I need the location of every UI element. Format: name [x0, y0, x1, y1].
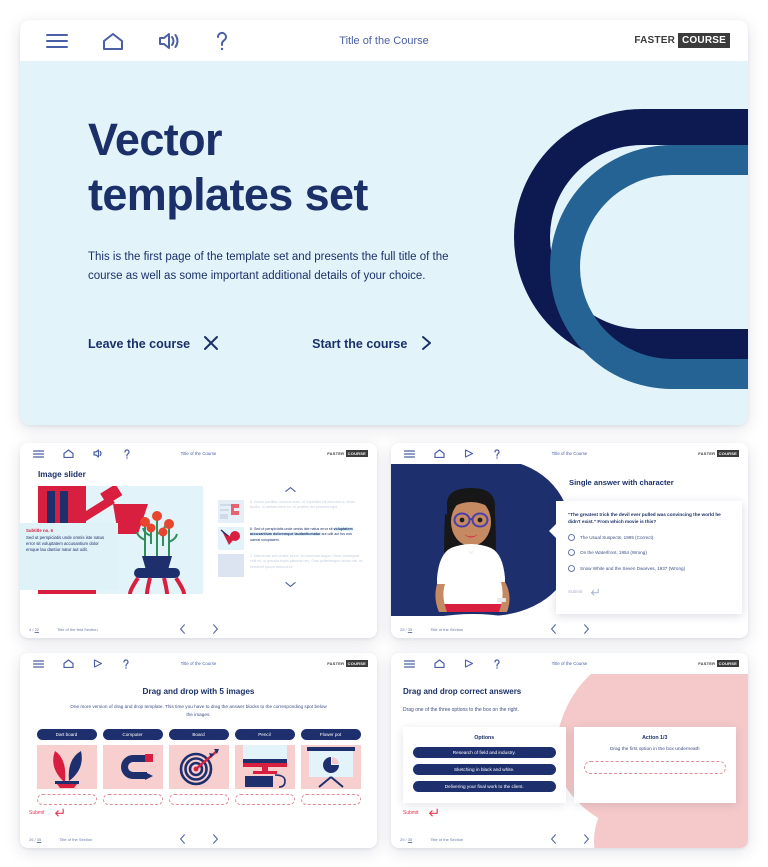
submit-label: Submit	[403, 810, 419, 816]
option-pill[interactable]: Delivering your final work to the client…	[413, 781, 556, 792]
question-text: "The greatest trick the devil ever pulle…	[568, 511, 730, 525]
drag-answers-heading: Drag and drop correct answers	[403, 687, 521, 696]
chevron-left-icon[interactable]	[550, 831, 557, 849]
drop-zone[interactable]	[584, 761, 727, 774]
slide-drag-drop-images[interactable]: Title of the Course FASTERCOURSE Drag an…	[20, 653, 377, 848]
drag-cell: Board	[169, 729, 229, 805]
drop-zone[interactable]	[235, 794, 295, 805]
mini3-pager	[29, 831, 368, 849]
start-course-label: Start the course	[312, 337, 407, 351]
mini2-topbar: Title of the Course FASTERCOURSE	[391, 443, 748, 464]
help-icon[interactable]	[214, 31, 230, 51]
submit-label: Submit	[568, 589, 582, 594]
list-item[interactable]: 1. Maecenas sed ornare lorem, id commodo…	[218, 554, 363, 577]
mini3-canvas: Drag and drop with 5 images One more ver…	[20, 674, 377, 848]
option-pill[interactable]: Sketching in black and white.	[413, 764, 556, 775]
action-header: Action 1/3	[584, 735, 727, 741]
mini1-nav-icons	[33, 449, 131, 459]
hero-actions: Leave the course Start the course	[88, 335, 483, 354]
drag-cell: Flower pot	[301, 729, 361, 805]
chevron-right-icon	[420, 335, 432, 354]
drag-cell: Dart board	[37, 729, 97, 805]
hero-slide: Title of the Course FASTERCOURSE Vector …	[20, 20, 748, 425]
sound-icon[interactable]	[93, 449, 104, 458]
mini2-pager	[400, 621, 739, 639]
menu-icon[interactable]	[33, 660, 44, 668]
mini1-canvas: Image slider	[20, 464, 377, 638]
answer-pill[interactable]: Pencil	[235, 729, 295, 740]
slide-deck-preview: Title of the Course FASTERCOURSE Vector …	[0, 0, 768, 867]
submit-button[interactable]: Submit	[403, 804, 438, 822]
list-item-text-before: 6. Sed ut perspiciatis unde omnis iste n…	[250, 527, 334, 531]
answer-pill[interactable]: Computer	[103, 729, 163, 740]
hero-nav-icons	[46, 31, 230, 51]
slider-thumbnail	[218, 527, 244, 550]
slide-single-answer[interactable]: Title of the Course FASTERCOURSE	[391, 443, 748, 638]
answer-option-label: Snow White and the Seven Dwarves, 1937 (…	[580, 566, 685, 571]
mini4-nav-icons	[404, 659, 501, 669]
mini1-footer: 4 / 22 Title of the first Section	[29, 627, 368, 632]
drag-images-grid: Dart board Computer Board	[20, 729, 377, 805]
mini2-footer: 29 / 35 Title of the Section	[400, 627, 739, 632]
home-icon[interactable]	[102, 32, 124, 50]
chevron-down-icon[interactable]	[218, 581, 363, 591]
submit-button[interactable]: Submit	[29, 804, 64, 822]
sound-icon[interactable]	[158, 32, 180, 50]
drag-images-description: One more version of drag and drop templa…	[67, 703, 331, 718]
leave-course-label: Leave the course	[88, 337, 190, 351]
hero-subtitle: This is the first page of the template s…	[88, 248, 483, 286]
fastercourse-logo: FASTERCOURSE	[698, 660, 739, 667]
home-icon[interactable]	[434, 659, 445, 668]
answer-pill[interactable]: Dart board	[37, 729, 97, 740]
mini4-canvas: Drag and drop correct answers Drag one o…	[391, 674, 748, 848]
hero-body: Vector templates set This is the first p…	[20, 61, 748, 425]
list-item[interactable]: 5. Donec porttitor rhoncus enim, et impe…	[218, 500, 363, 523]
answer-option-label: The Usual Suspects, 1995 (Correct)	[580, 535, 653, 540]
home-icon[interactable]	[63, 449, 74, 458]
callout-title: Subtitle no. 6	[26, 528, 112, 533]
drag-answers-panels: Options Research of field and industry. …	[403, 727, 736, 803]
mini3-footer: 26 / 35 Title of the Section	[29, 837, 368, 842]
option-pill[interactable]: Research of field and industry.	[413, 747, 556, 758]
mini3-nav-icons	[33, 659, 130, 669]
slide-image-slider[interactable]: Title of the Course FASTERCOURSE Image s…	[20, 443, 377, 638]
options-panel: Options Research of field and industry. …	[403, 727, 566, 803]
character-illustration	[429, 486, 521, 616]
drag-cell: Pencil	[235, 729, 295, 805]
list-item[interactable]: 6. Sed ut perspiciatis unde omnis iste n…	[218, 527, 363, 550]
menu-icon[interactable]	[404, 660, 415, 668]
mini2-nav-icons	[404, 449, 501, 459]
fastercourse-logo: FASTERCOURSE	[327, 450, 368, 457]
leave-course-button[interactable]: Leave the course	[88, 335, 219, 354]
submit-button[interactable]: Submit	[568, 583, 730, 601]
radio-button[interactable]	[568, 565, 575, 572]
mini1-topbar: Title of the Course FASTERCOURSE	[20, 443, 377, 464]
enter-arrow-icon	[590, 583, 599, 601]
fastercourse-logo: FASTERCOURSE	[634, 33, 730, 48]
home-icon[interactable]	[63, 659, 74, 668]
question-card: "The greatest trick the devil ever pulle…	[556, 501, 742, 614]
dartboard-illustration	[169, 745, 229, 789]
fastercourse-logo: FASTERCOURSE	[327, 660, 368, 667]
answer-option[interactable]: Snow White and the Seven Dwarves, 1937 (…	[568, 565, 730, 572]
slider-thumbnail	[218, 554, 244, 577]
drop-zone[interactable]	[103, 794, 163, 805]
options-header: Options	[413, 735, 556, 741]
chevron-left-icon[interactable]	[179, 621, 186, 639]
mini3-topbar: Title of the Course FASTERCOURSE	[20, 653, 377, 674]
chevron-right-icon[interactable]	[212, 621, 219, 639]
list-item-label: 6. Sed ut perspiciatis unde omnis iste n…	[250, 527, 363, 550]
drag-images-heading: Drag and drop with 5 images	[20, 687, 377, 696]
chevron-left-icon[interactable]	[179, 831, 186, 849]
drag-answers-description: Drag one of the three options to the box…	[403, 707, 519, 713]
chevron-right-icon[interactable]	[212, 831, 219, 849]
list-item-label: 1. Maecenas sed ornare lorem, id commodo…	[250, 554, 363, 577]
answer-pill[interactable]: Flower pot	[301, 729, 361, 740]
callout-body: Sed ut perspiciatis unde omnis iste natu…	[26, 535, 112, 554]
magnet-illustration	[103, 745, 163, 789]
image-slider-heading: Image slider	[38, 470, 86, 479]
chevron-up-icon[interactable]	[218, 486, 363, 496]
hero-title-line2: templates set	[88, 168, 483, 223]
menu-icon[interactable]	[33, 450, 44, 458]
desktop-computer-illustration	[235, 745, 295, 789]
menu-icon[interactable]	[46, 33, 68, 49]
chevron-right-icon[interactable]	[583, 621, 590, 639]
answer-option[interactable]: The Usual Suspects, 1995 (Correct)	[568, 534, 730, 541]
enter-arrow-icon	[54, 804, 64, 822]
home-icon[interactable]	[434, 449, 445, 458]
slider-item-list: 5. Donec porttitor rhoncus enim, et impe…	[218, 486, 363, 591]
submit-label: Submit	[29, 810, 45, 816]
chevron-left-icon[interactable]	[550, 621, 557, 639]
list-item-label: 5. Donec porttitor rhoncus enim, et impe…	[250, 500, 363, 523]
play-icon[interactable]	[93, 659, 103, 668]
decorative-c-shape	[514, 109, 748, 365]
menu-icon[interactable]	[404, 450, 415, 458]
action-panel: Action 1/3 Drag the first option in the …	[574, 727, 737, 803]
mini1-pager	[29, 621, 368, 639]
help-icon[interactable]	[493, 449, 501, 459]
drag-cell: Computer	[103, 729, 163, 805]
fastercourse-logo: FASTERCOURSE	[698, 450, 739, 457]
drop-zone[interactable]	[169, 794, 229, 805]
hero-text-block: Vector templates set This is the first p…	[88, 113, 483, 354]
answer-pill[interactable]: Board	[169, 729, 229, 740]
mini4-footer: 29 / 35 Title of the Section	[400, 837, 739, 842]
slide-drag-drop-answers[interactable]: Title of the Course FASTERCOURSE Drag an…	[391, 653, 748, 848]
slider-thumbnail	[218, 500, 244, 523]
help-icon[interactable]	[493, 659, 501, 669]
answer-option[interactable]: On the Waterfront, 1954 (Wrong)	[568, 549, 730, 556]
close-x-icon	[203, 335, 219, 354]
mini4-pager	[400, 831, 739, 849]
hero-title-line1: Vector	[88, 113, 483, 168]
hero-topbar: Title of the Course FASTERCOURSE	[20, 20, 748, 61]
drop-zone[interactable]	[301, 794, 361, 805]
play-icon[interactable]	[464, 449, 474, 458]
start-course-button[interactable]: Start the course	[312, 335, 432, 354]
hero-title: Vector templates set	[88, 113, 483, 223]
radio-button[interactable]	[568, 549, 575, 556]
leaf-plant-illustration	[37, 745, 97, 789]
single-answer-heading: Single answer with character	[569, 478, 674, 487]
radio-button[interactable]	[568, 534, 575, 541]
help-icon[interactable]	[123, 449, 131, 459]
mini2-canvas: Single answer with character "The greate…	[391, 464, 748, 638]
action-text: Drag the first option in the box underne…	[584, 747, 727, 752]
mini4-topbar: Title of the Course FASTERCOURSE	[391, 653, 748, 674]
answer-option-label: On the Waterfront, 1954 (Wrong)	[580, 550, 647, 555]
presentation-board-illustration	[301, 745, 361, 789]
help-icon[interactable]	[122, 659, 130, 669]
slider-callout: Subtitle no. 6 Sed ut perspiciatis unde …	[20, 523, 118, 590]
play-icon[interactable]	[464, 659, 474, 668]
chevron-right-icon[interactable]	[583, 831, 590, 849]
enter-arrow-icon	[428, 804, 438, 822]
